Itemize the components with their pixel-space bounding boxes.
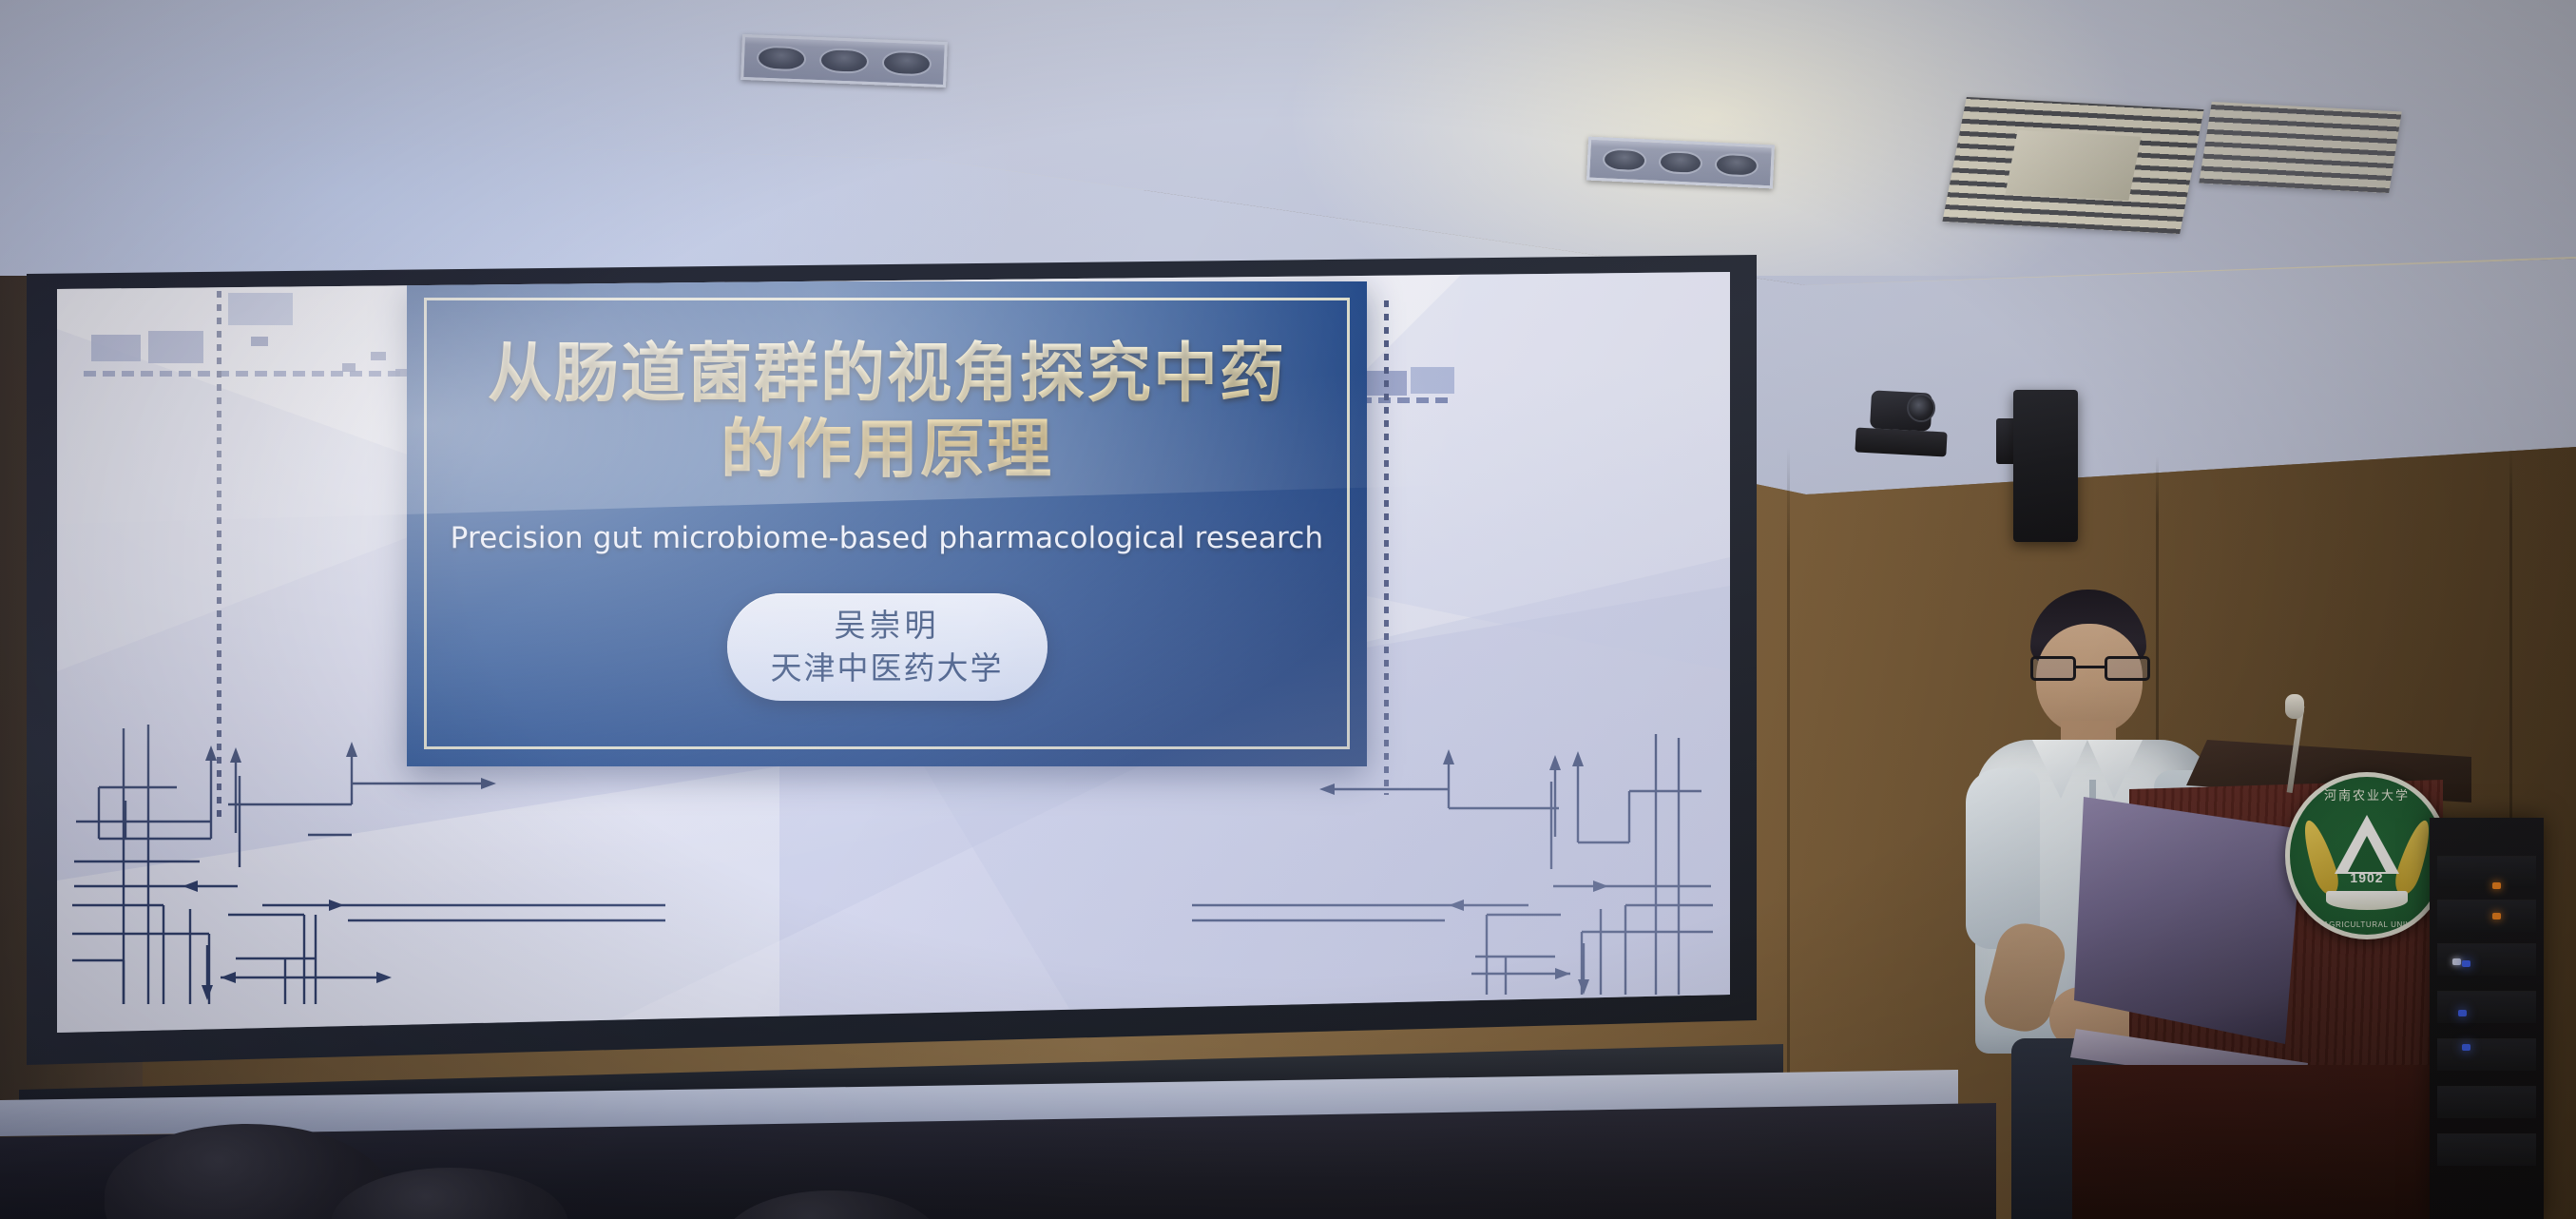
vent-core — [2005, 130, 2141, 202]
emblem-book-icon — [2326, 891, 2408, 910]
card-content: 从肠道菌群的视角探究中药 的作用原理 Precision gut microbi… — [407, 281, 1367, 766]
camera-bracket — [1855, 428, 1947, 457]
led-display-screen[interactable]: 从肠道菌群的视角探究中药 的作用原理 Precision gut microbi… — [57, 272, 1730, 1033]
emblem-founded-year: 1902 — [2290, 870, 2444, 885]
rack-unit — [2437, 856, 2536, 888]
circuit-trace-bottom-right — [1188, 728, 1721, 1014]
glasses-bridge — [2076, 666, 2105, 668]
speaker-affiliation: 天津中医药大学 — [771, 648, 1004, 689]
downlight-lamp — [1602, 147, 1646, 172]
hvac-ceiling-diffuser-secondary — [2199, 102, 2401, 193]
rack-unit — [2437, 1133, 2536, 1166]
downlight-lamp — [819, 48, 869, 73]
deco-block — [148, 331, 203, 363]
emblem-name-chinese: 河南农业大学 — [2290, 785, 2444, 803]
slide-title-line-1: 从肠道菌群的视角探究中药 — [488, 337, 1286, 413]
rack-led-blue — [2462, 1044, 2470, 1051]
hvac-ceiling-diffuser — [1942, 97, 2203, 234]
wall-mounted-loudspeaker — [2013, 390, 2078, 542]
av-equipment-rack — [2430, 818, 2544, 1219]
downlight-lamp — [757, 46, 806, 71]
deco-block — [91, 335, 141, 361]
rack-led-blue — [2462, 960, 2470, 967]
university-emblem: 河南农业大学 1902 HENAN AGRICULTURAL UNIVERSIT… — [2285, 772, 2449, 939]
speaker-badge: 吴崇明 天津中医药大学 — [727, 593, 1048, 700]
emblem-mountain-inner — [2348, 836, 2386, 872]
glasses-lens-right — [2105, 656, 2150, 681]
speaker-name: 吴崇明 — [771, 605, 1004, 647]
rack-led-orange — [2492, 913, 2501, 919]
deco-block — [342, 363, 356, 372]
downlight-lamp — [1658, 150, 1702, 175]
presenter-glasses-icon — [2030, 656, 2150, 681]
rack-led-orange — [2492, 882, 2501, 889]
rack-unit — [2437, 1038, 2536, 1071]
deco-dotted-line-vertical — [1384, 300, 1389, 795]
deco-block — [228, 293, 293, 325]
shirt-sleeve-left — [1966, 768, 2040, 949]
rack-unit — [2437, 991, 2536, 1023]
rack-led-blue — [2458, 1010, 2467, 1016]
slide-title-card: 从肠道菌群的视角探究中药 的作用原理 Precision gut microbi… — [407, 281, 1367, 766]
slide-title-chinese: 从肠道菌群的视角探究中药 的作用原理 — [488, 337, 1286, 489]
deco-block — [251, 337, 268, 346]
vent-louvers — [2199, 102, 2401, 193]
rack-unit — [2437, 1086, 2536, 1118]
emblem-name-english: HENAN AGRICULTURAL UNIVERSITY — [2290, 920, 2444, 929]
podium-front-panel — [2074, 797, 2302, 1044]
rack-led-white — [2452, 958, 2461, 965]
camera-lens-icon — [1907, 394, 1935, 422]
deco-block — [395, 369, 407, 377]
presentation-hall-photo: 从肠道菌群的视角探究中药 的作用原理 Precision gut microbi… — [0, 0, 2576, 1219]
rack-unit — [2437, 900, 2536, 932]
slide-title-line-2: 的作用原理 — [488, 413, 1286, 489]
slide-subtitle-english: Precision gut microbiome-based pharmacol… — [451, 521, 1324, 555]
recessed-downlight-left — [740, 34, 948, 87]
downlight-lamp — [882, 50, 932, 76]
microphone-icon — [2285, 694, 2304, 719]
deco-block — [1411, 367, 1454, 394]
podium-base — [2072, 1065, 2471, 1219]
recessed-downlight-right — [1586, 137, 1775, 189]
deco-block — [371, 352, 386, 360]
glasses-lens-left — [2030, 656, 2076, 681]
downlight-lamp — [1715, 153, 1759, 178]
